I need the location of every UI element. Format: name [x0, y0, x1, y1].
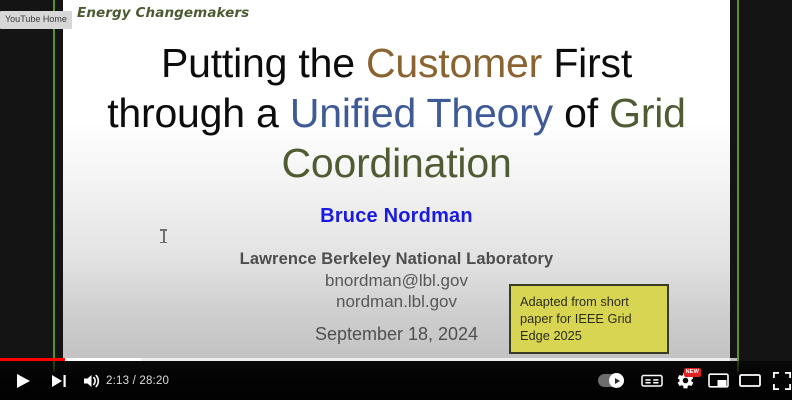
autoplay-toggle-knob [609, 373, 624, 388]
slide-title: Putting the Customer First through a Uni… [63, 38, 730, 188]
fullscreen-icon [773, 372, 791, 390]
video-stage[interactable]: Energy Changemakers Putting the Customer… [0, 0, 792, 400]
closed-captions-icon [641, 373, 663, 388]
annotation-guide-right [737, 0, 739, 372]
text-cursor-icon [160, 229, 167, 243]
title-line-3: Coordination [63, 138, 730, 188]
slide-affiliation: Lawrence Berkeley National Laboratory [63, 250, 730, 269]
youtube-player[interactable]: Energy Changemakers Putting the Customer… [0, 0, 792, 400]
slide-author: Bruce Nordman [63, 205, 730, 228]
title-line-2: through a Unified Theory of Grid [63, 88, 730, 138]
title-word-unified-theory: Unified Theory [290, 90, 553, 136]
theater-mode-icon [739, 373, 761, 388]
time-display: 2:13 / 28:20 [106, 361, 169, 400]
title-text-4: of [553, 90, 609, 136]
captions-button[interactable] [635, 361, 669, 400]
title-word-grid: Grid [609, 90, 686, 136]
next-video-button[interactable] [42, 361, 76, 400]
next-video-icon [51, 374, 67, 388]
settings-button[interactable]: NEW [668, 361, 702, 400]
youtube-home-tooltip: YouTube Home [0, 11, 72, 29]
fullscreen-button[interactable] [765, 361, 792, 400]
title-text-3: through a [107, 90, 290, 136]
title-word-customer: Customer [366, 40, 542, 86]
title-line-1: Putting the Customer First [63, 38, 730, 88]
volume-icon [83, 373, 102, 389]
play-icon [16, 373, 31, 389]
slide-header: Energy Changemakers [77, 5, 249, 21]
player-controls[interactable]: 2:13 / 28:20 [0, 361, 792, 400]
slide-callout-box: Adapted from short paper for IEEE Grid E… [509, 284, 669, 354]
video-slide[interactable]: Energy Changemakers Putting the Customer… [63, 0, 730, 361]
settings-new-badge: NEW [684, 368, 701, 377]
miniplayer-button[interactable] [701, 361, 735, 400]
title-text-2: First [542, 40, 632, 86]
autoplay-toggle[interactable] [598, 374, 624, 387]
miniplayer-icon [708, 373, 729, 388]
play-button[interactable] [6, 361, 40, 400]
volume-button[interactable] [75, 361, 109, 400]
title-word-coordination: Coordination [281, 140, 511, 186]
annotation-guide-left [53, 0, 55, 372]
title-text-1: Putting the [161, 40, 366, 86]
theater-mode-button[interactable] [733, 361, 767, 400]
autoplay-toggle-button[interactable] [591, 361, 631, 400]
